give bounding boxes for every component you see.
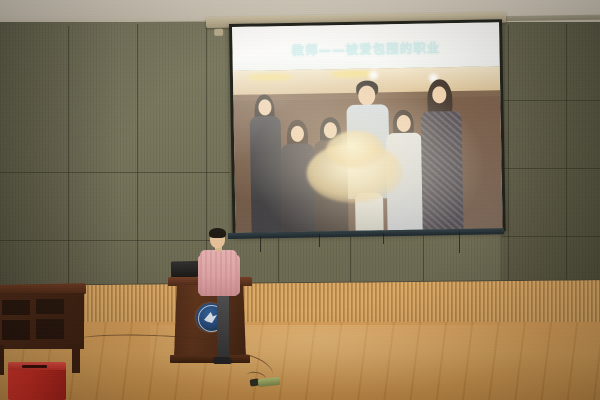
side-table-shelf-opening (36, 299, 64, 314)
wall-seam-vertical (350, 235, 351, 287)
screen-hanging-cord (319, 234, 320, 247)
presenter-hair (209, 228, 226, 238)
projection-screen: 教师——被爱包围的职业 (229, 19, 506, 236)
wall-right-shadow (500, 22, 600, 300)
screen-hanging-cord (260, 236, 261, 252)
side-table-shelf-opening (36, 319, 64, 339)
slide-group-photo (233, 66, 503, 233)
wall-seam-vertical (278, 236, 279, 288)
photo-person (417, 77, 468, 230)
wall-seam-vertical (68, 26, 69, 288)
screen-mount-bracket (214, 29, 223, 36)
presenter-torso-shirt (200, 250, 237, 296)
wall-seam-horizontal (502, 100, 600, 101)
wall-seam-horizontal (502, 236, 600, 237)
wall-seam-horizontal (0, 172, 230, 173)
ballot-box-slot (22, 365, 47, 368)
auditorium-scene: 教师——被爱包围的职业 (0, 0, 600, 400)
red-ballot-box (8, 366, 66, 400)
side-table-shelf-opening (2, 300, 30, 315)
wall-seam-horizontal (0, 240, 215, 241)
wall-seam-vertical (137, 24, 138, 287)
photo-light-bulb (369, 70, 378, 79)
screen-surface: 教师——被爱包围的职业 (232, 22, 503, 233)
screen-hanging-cord (383, 233, 384, 244)
wall-seam-vertical (508, 25, 509, 287)
wall-seam-horizontal (502, 168, 600, 169)
screen-hanging-cord (459, 231, 460, 253)
wall-seam-vertical (423, 234, 424, 287)
side-table-leg (72, 343, 80, 373)
wall-left-shadow (0, 22, 120, 300)
side-table-shelf-opening (2, 320, 30, 340)
side-table-leg (0, 345, 4, 375)
wall-seam-vertical (566, 24, 567, 286)
wall-seam-vertical (206, 22, 207, 286)
